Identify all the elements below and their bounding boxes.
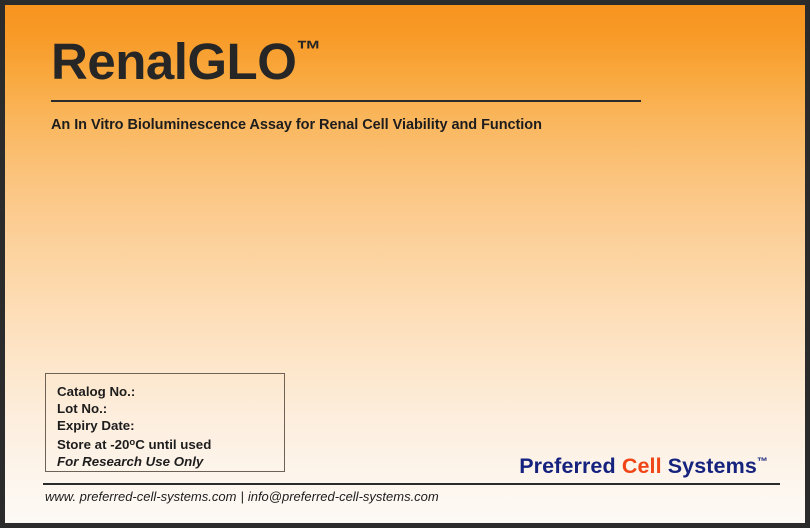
label-header: RenalGLO™ An In Vitro Bioluminescence As…	[51, 35, 641, 133]
footer-divider	[43, 483, 780, 485]
company-logo: Preferred Cell Systems™	[519, 454, 768, 479]
company-logo-word-cell: Cell	[622, 454, 662, 478]
product-label-card: RenalGLO™ An In Vitro Bioluminescence As…	[0, 0, 810, 528]
footer-separator: |	[236, 489, 247, 504]
expiry-date-label: Expiry Date:	[57, 417, 284, 434]
company-logo-word-preferred: Preferred	[519, 454, 616, 478]
storage-text-after: C until used	[135, 437, 211, 452]
product-title-text: RenalGLO	[51, 33, 296, 90]
page-title: RenalGLO™	[51, 35, 641, 89]
lot-number-label: Lot No.:	[57, 400, 284, 417]
catalog-number-label: Catalog No.:	[57, 383, 284, 400]
research-use-notice: For Research Use Only	[57, 453, 284, 470]
email-address[interactable]: info@preferred-cell-systems.com	[248, 489, 439, 504]
catalog-info-box: Catalog No.: Lot No.: Expiry Date: Store…	[45, 373, 285, 472]
website-url[interactable]: www. preferred-cell-systems.com	[45, 489, 236, 504]
company-logo-word-systems: Systems	[668, 454, 757, 478]
trademark-symbol: ™	[296, 36, 321, 64]
company-trademark-symbol: ™	[757, 456, 768, 468]
product-subtitle: An In Vitro Bioluminescence Assay for Re…	[51, 117, 641, 133]
footer-contact: www. preferred-cell-systems.com|info@pre…	[45, 489, 439, 504]
storage-instruction: Store at -20oC until used	[57, 434, 284, 453]
storage-temp-text: Store at -20	[57, 437, 129, 452]
title-divider	[51, 100, 641, 102]
